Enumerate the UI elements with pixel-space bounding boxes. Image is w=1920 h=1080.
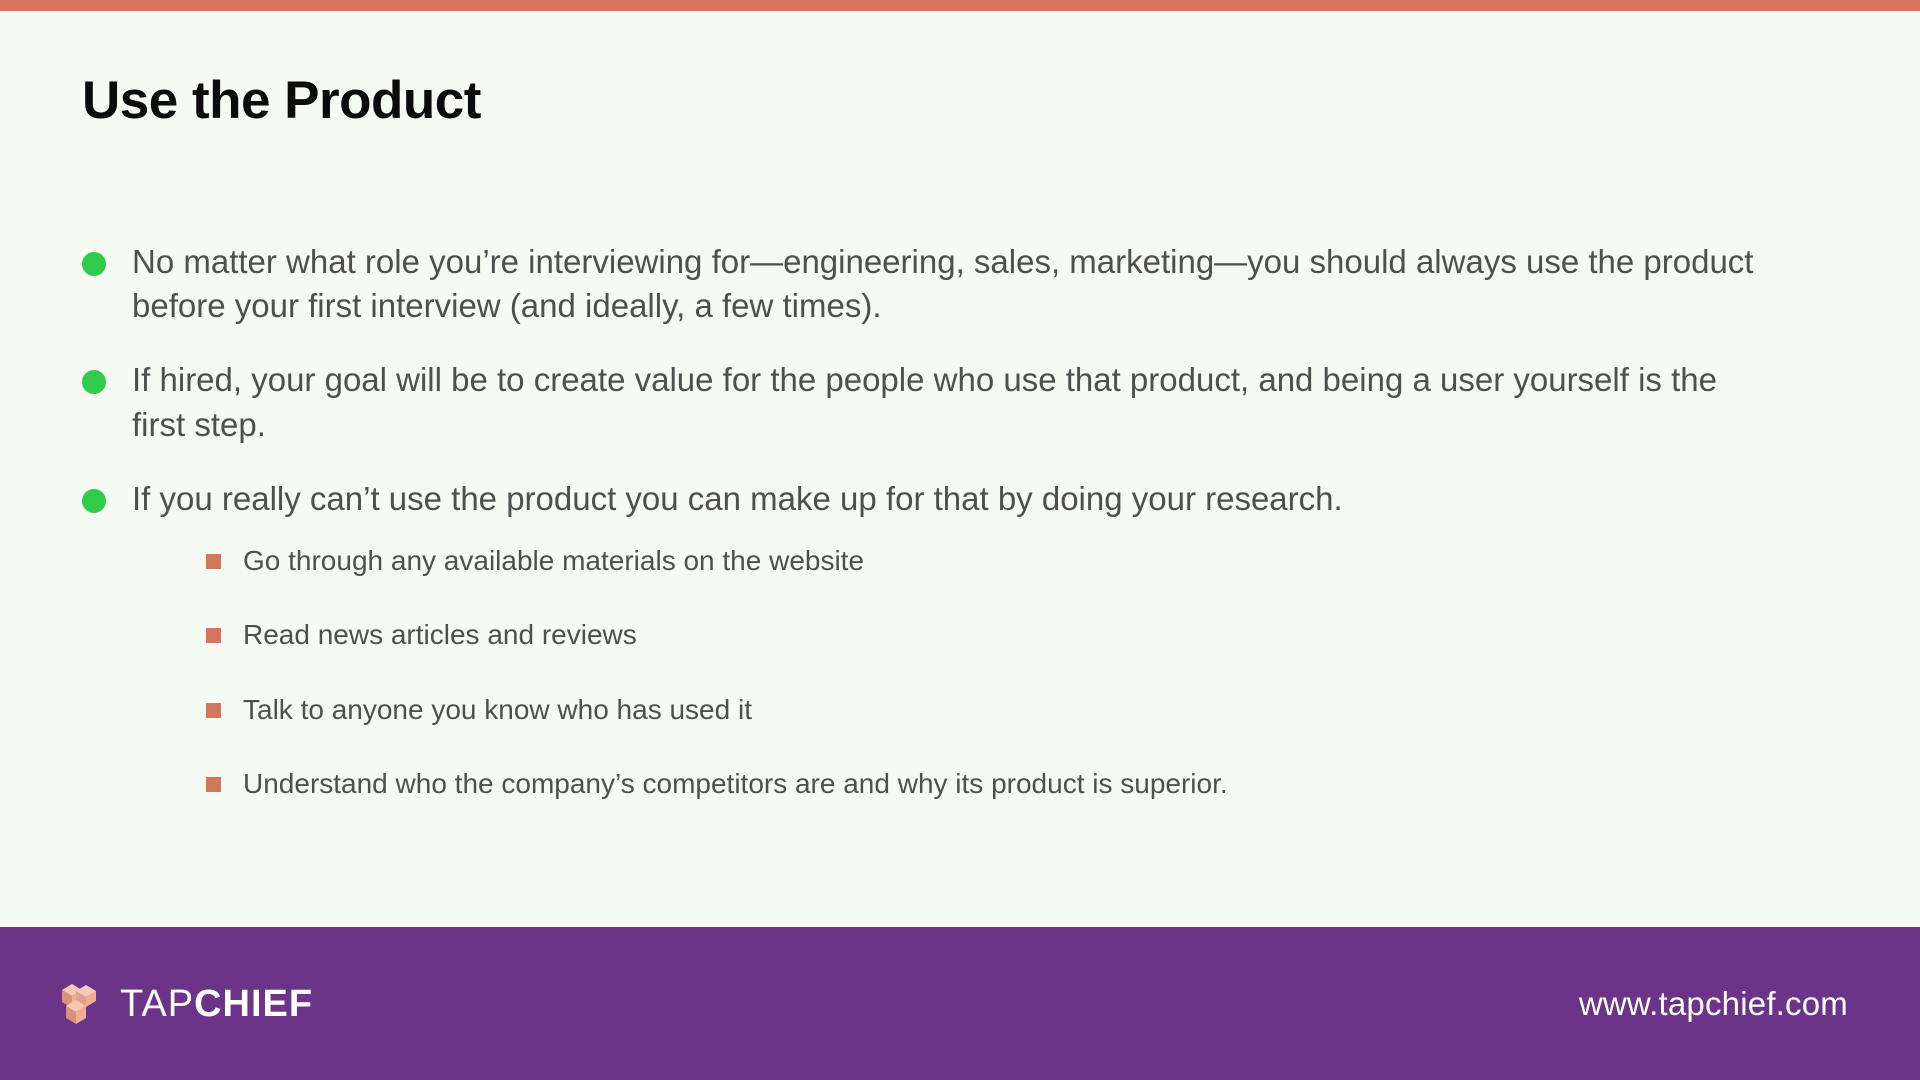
list-item: If you really can’t use the product you …: [82, 477, 1872, 803]
brand-name-prefix: TAP: [120, 983, 194, 1025]
brand-name: TAPCHIEF: [120, 985, 313, 1023]
sub-list-item-label: Talk to anyone you know who has used it: [243, 692, 1872, 728]
sub-list-item-label: Go through any available materials on th…: [243, 543, 1872, 579]
presentation-slide: Use the Product No matter what role you’…: [0, 0, 1920, 1080]
square-bullet-icon: [206, 554, 221, 569]
sub-list-item-label: Understand who the company’s competitors…: [243, 766, 1872, 802]
page-title: Use the Product: [82, 72, 481, 130]
list-item-label: If you really can’t use the product you …: [132, 480, 1343, 517]
list-item: No matter what role you’re interviewing …: [82, 240, 1872, 328]
slide-footer: TAPCHIEF www.tapchief.com: [0, 927, 1920, 1080]
green-dot-icon: [82, 489, 106, 513]
list-item-label: No matter what role you’re interviewing …: [132, 240, 1772, 328]
sub-list-item: Understand who the company’s competitors…: [206, 766, 1872, 802]
tapchief-cube-logo-icon: [58, 980, 102, 1028]
sub-list-item: Go through any available materials on th…: [206, 543, 1872, 579]
square-bullet-icon: [206, 703, 221, 718]
green-dot-icon: [82, 252, 106, 276]
brand-name-suffix: CHIEF: [194, 983, 313, 1025]
list-item: If hired, your goal will be to create va…: [82, 358, 1872, 446]
list-item-label: If hired, your goal will be to create va…: [132, 358, 1772, 446]
sub-list-item: Read news articles and reviews: [206, 617, 1872, 653]
brand-lockup: TAPCHIEF: [58, 980, 313, 1028]
square-bullet-icon: [206, 628, 221, 643]
sub-list-item: Talk to anyone you know who has used it: [206, 692, 1872, 728]
green-dot-icon: [82, 370, 106, 394]
sub-bullet-list: Go through any available materials on th…: [206, 543, 1872, 803]
footer-website-url[interactable]: www.tapchief.com: [1579, 985, 1848, 1023]
sub-list-item-label: Read news articles and reviews: [243, 617, 1872, 653]
top-accent-bar: [0, 0, 1920, 11]
square-bullet-icon: [206, 777, 221, 792]
bullet-list: No matter what role you’re interviewing …: [82, 240, 1872, 833]
